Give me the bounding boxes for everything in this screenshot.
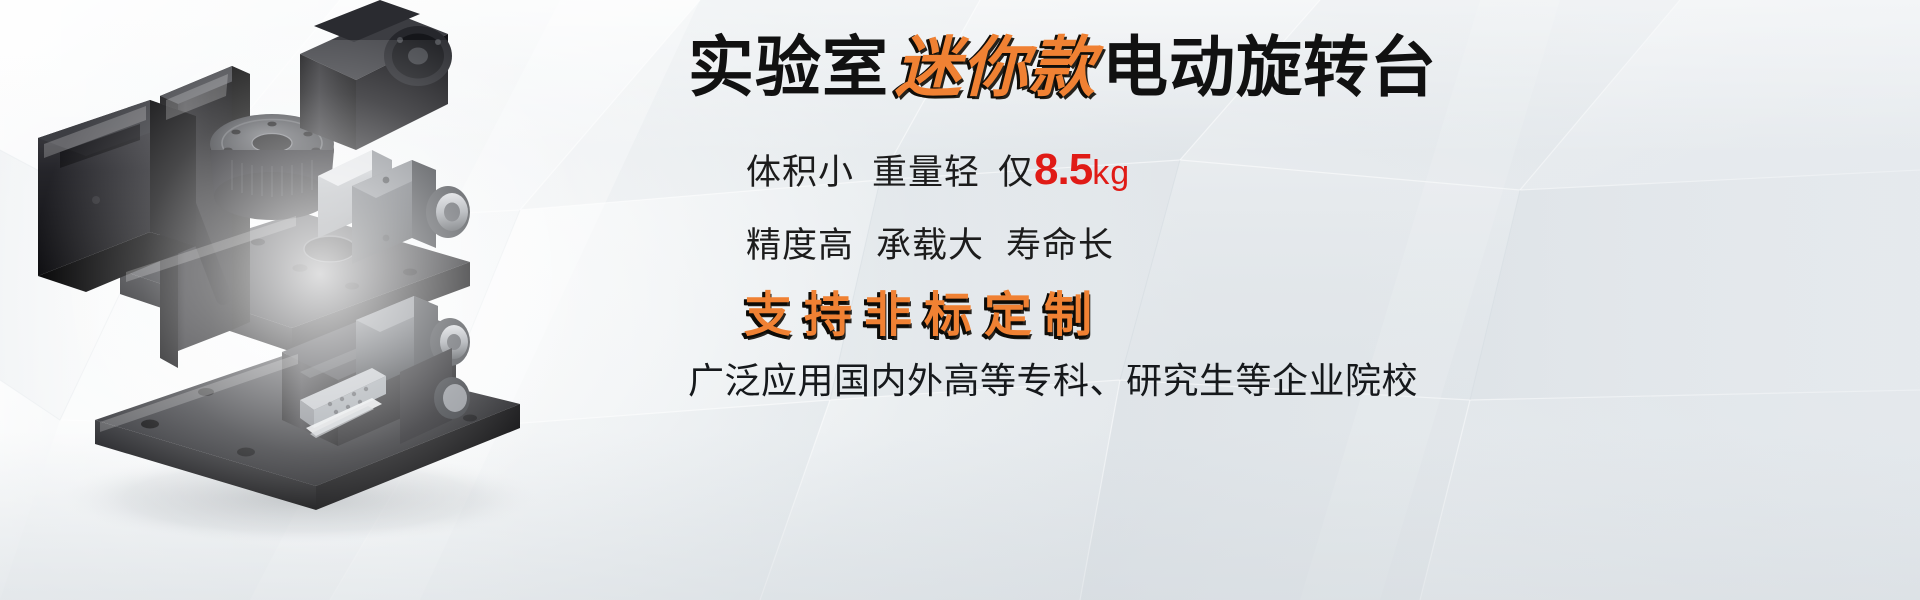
spec-item-weight: 重量轻 xyxy=(872,153,980,192)
spec-item-precision: 精度高 xyxy=(746,226,854,265)
weight-value: 8.5 xyxy=(1034,145,1092,194)
banner-copy-block: 实验室迷你款电动旋转台 体积小重量轻仅8.5kg 精度高承载大寿命长 支持非标定… xyxy=(688,0,1888,600)
footer-line: 广泛应用国内外高等专科、研究生等企业院校 xyxy=(688,363,1418,399)
custom-order-line: 支持非标定制 xyxy=(744,292,1104,340)
spec-item-only: 仅 xyxy=(998,153,1034,192)
spec-item-lifespan: 寿命长 xyxy=(1006,226,1114,265)
spec-item-volume: 体积小 xyxy=(746,153,854,192)
spec-line-1: 体积小重量轻仅8.5kg xyxy=(746,148,1130,192)
headline-part2: 电动旋转台 xyxy=(1102,30,1437,104)
headline: 实验室迷你款电动旋转台 xyxy=(688,34,1437,100)
weight-unit: kg xyxy=(1092,154,1130,192)
product-photo xyxy=(0,0,700,600)
spec-item-load: 承载大 xyxy=(876,226,984,265)
spec-line-2: 精度高承载大寿命长 xyxy=(746,228,1114,263)
headline-part1: 实验室 xyxy=(688,30,889,104)
product-promo-banner: 实验室迷你款电动旋转台 体积小重量轻仅8.5kg 精度高承载大寿命长 支持非标定… xyxy=(0,0,1920,600)
headline-accent: 迷你款 xyxy=(889,30,1102,104)
